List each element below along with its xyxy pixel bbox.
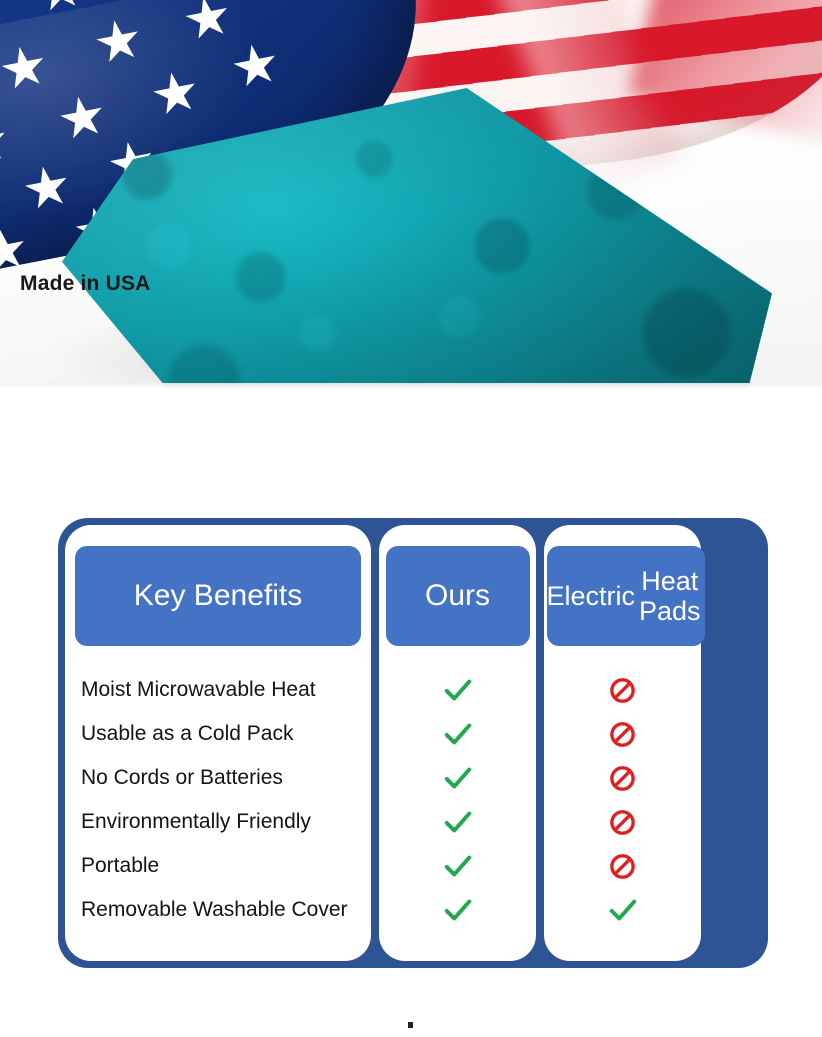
benefit-label: Moist Microwavable Heat	[81, 678, 316, 702]
cell-electric-1-prohibit-icon	[609, 721, 636, 748]
table-row	[544, 668, 701, 712]
table-row	[379, 888, 536, 932]
cell-electric-0-prohibit-icon	[609, 677, 636, 704]
benefit-label: No Cords or Batteries	[81, 766, 283, 790]
cell-electric-3-prohibit-icon	[609, 809, 636, 836]
table-row	[544, 756, 701, 800]
table-row	[544, 844, 701, 888]
page-artifact-dot	[408, 1022, 413, 1028]
benefit-label: Usable as a Cold Pack	[81, 722, 293, 746]
infographic-page: Made in USA Key Benefits Moist Microwava…	[0, 0, 822, 1037]
table-row: Environmentally Friendly	[65, 800, 371, 844]
photo-bottom-edge	[0, 383, 822, 388]
cell-ours-0-check-icon	[443, 675, 473, 705]
benefit-label: Portable	[81, 854, 159, 878]
table-row	[379, 668, 536, 712]
table-row	[544, 800, 701, 844]
column-header-key-benefits: Key Benefits	[75, 546, 361, 646]
cell-electric-4-prohibit-icon	[609, 853, 636, 880]
table-row	[379, 800, 536, 844]
column-electric-heat-pads: Electric Heat Pads	[544, 525, 701, 961]
ours-value-list	[379, 668, 536, 932]
cell-ours-2-check-icon	[443, 763, 473, 793]
cell-electric-5-check-icon	[608, 895, 638, 925]
table-row	[379, 844, 536, 888]
table-row: Usable as a Cold Pack	[65, 712, 371, 756]
table-row: Portable	[65, 844, 371, 888]
cell-ours-3-check-icon	[443, 807, 473, 837]
table-row: No Cords or Batteries	[65, 756, 371, 800]
benefit-label-list: Moist Microwavable Heat Usable as a Cold…	[65, 668, 371, 932]
made-in-usa-caption: Made in USA	[20, 272, 151, 296]
table-row	[544, 712, 701, 756]
column-header-line1: Electric	[547, 581, 636, 611]
table-row	[379, 756, 536, 800]
product-photo	[0, 0, 822, 388]
column-header-electric-heat-pads: Electric Heat Pads	[547, 546, 705, 646]
column-header-line2: Heat Pads	[635, 566, 704, 626]
flag-star-icon	[0, 226, 30, 278]
benefit-label: Removable Washable Cover	[81, 898, 348, 922]
table-row: Moist Microwavable Heat	[65, 668, 371, 712]
column-key-benefits: Key Benefits Moist Microwavable Heat Usa…	[65, 525, 371, 961]
benefit-label: Environmentally Friendly	[81, 810, 311, 834]
cell-electric-2-prohibit-icon	[609, 765, 636, 792]
table-row	[544, 888, 701, 932]
cell-ours-1-check-icon	[443, 719, 473, 749]
electric-value-list	[544, 668, 701, 932]
table-row: Removable Washable Cover	[65, 888, 371, 932]
cell-ours-5-check-icon	[443, 895, 473, 925]
table-row	[379, 712, 536, 756]
column-ours: Ours	[379, 525, 536, 961]
column-header-ours: Ours	[386, 546, 530, 646]
comparison-table: Key Benefits Moist Microwavable Heat Usa…	[58, 518, 768, 968]
cell-ours-4-check-icon	[443, 851, 473, 881]
